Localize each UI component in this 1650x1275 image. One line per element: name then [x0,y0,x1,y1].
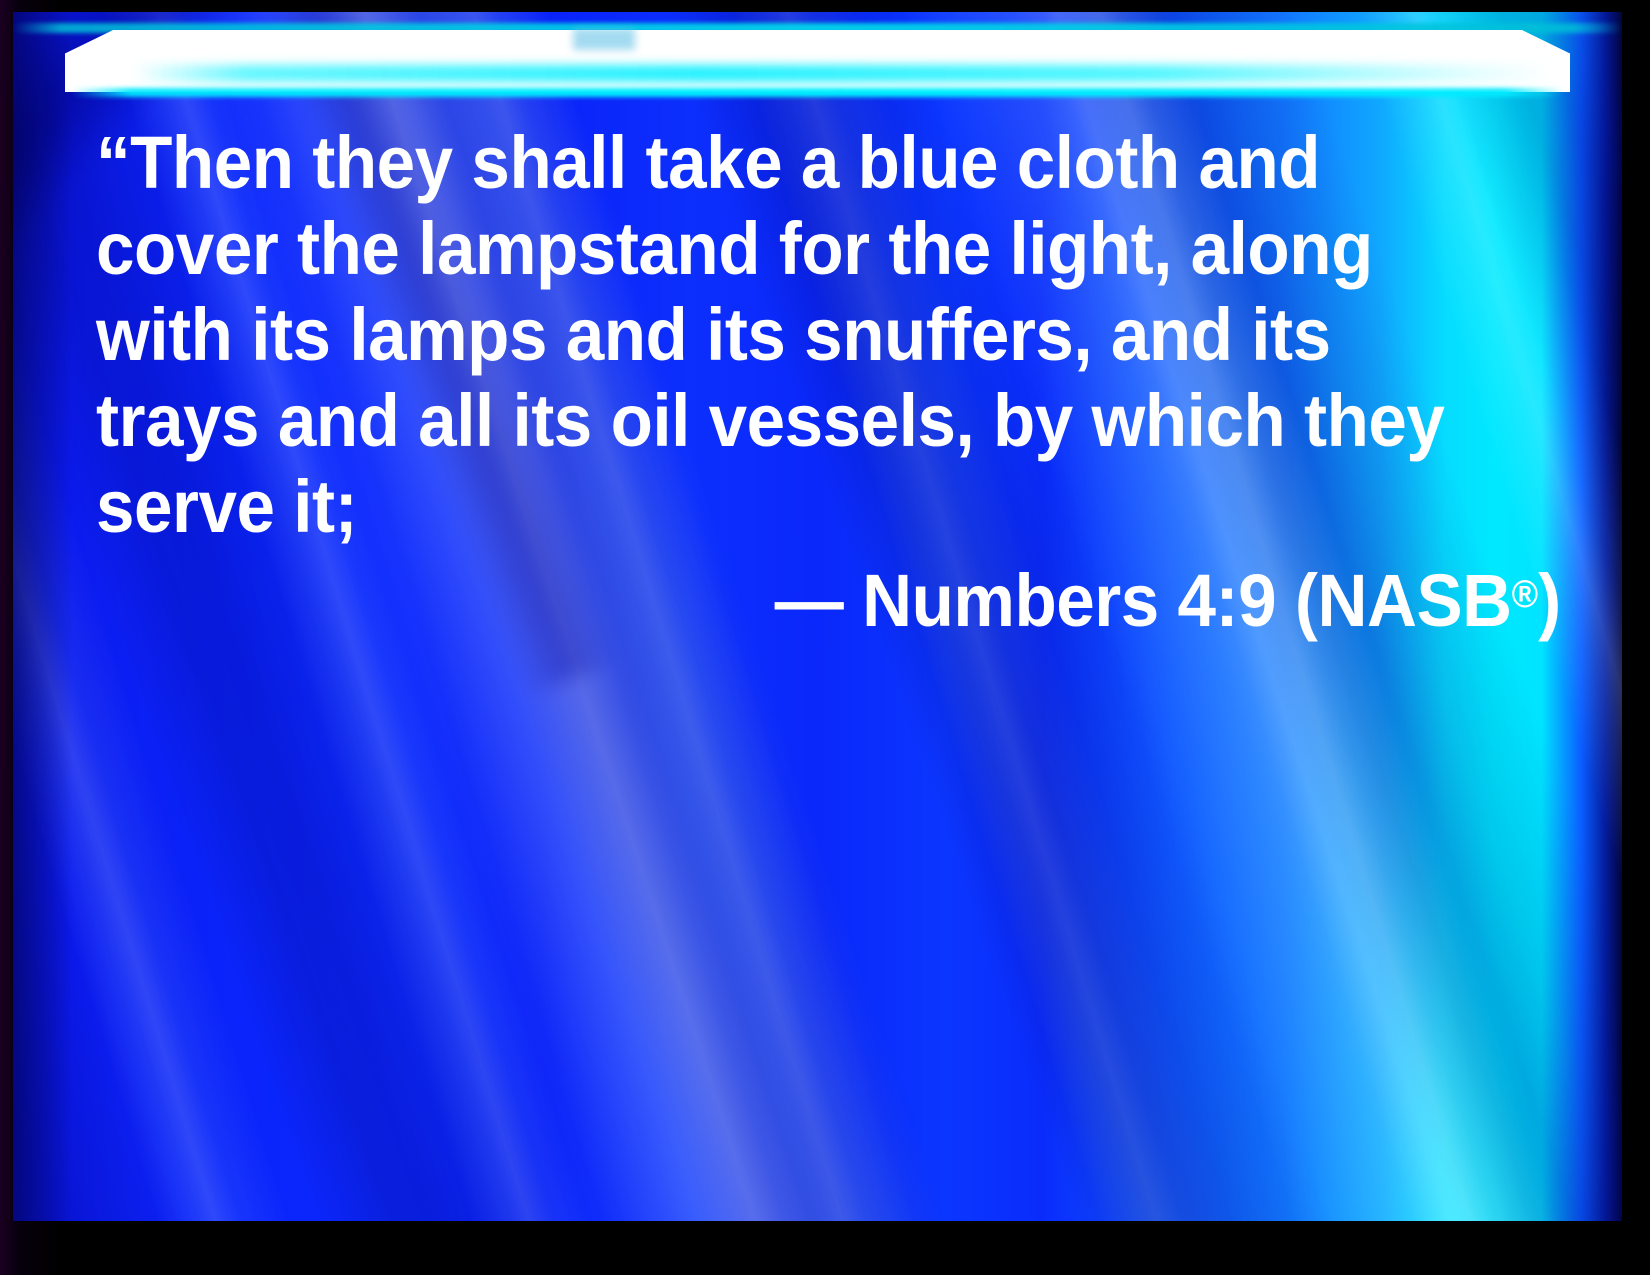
verse-text-block: “Then they shall take a blue cloth and c… [96,120,1546,550]
verse-line-1: “Then they shall take a blue cloth and [96,120,1452,206]
top-bar-cyan-edge [71,88,1564,97]
verse-attribution: — Numbers 4:9 (NASB®) [775,552,1561,644]
slide-frame: “Then they shall take a blue cloth and c… [0,0,1650,1275]
attribution-row: — Numbers 4:9 (NASB®) [96,552,1561,644]
verse-line-5: serve it; [96,464,1452,550]
attribution-dash: — [775,559,862,642]
slide-canvas: “Then they shall take a blue cloth and c… [13,12,1622,1221]
top-bar-cyan-streak [133,65,1552,82]
verse-line-4: trays and all its oil vessels, by which … [96,378,1452,464]
attribution-closing-paren: ) [1538,559,1561,642]
verse-line-2: cover the lampstand for the light, along [96,206,1452,292]
registered-trademark-icon: ® [1512,573,1539,616]
top-white-bar [65,30,1570,92]
top-glow-bar [13,12,1622,112]
verse-line-3: with its lamps and its snuffers, and its [96,292,1452,378]
attribution-reference: Numbers 4:9 (NASB [862,559,1512,642]
top-bar-notch-highlight [573,28,635,50]
